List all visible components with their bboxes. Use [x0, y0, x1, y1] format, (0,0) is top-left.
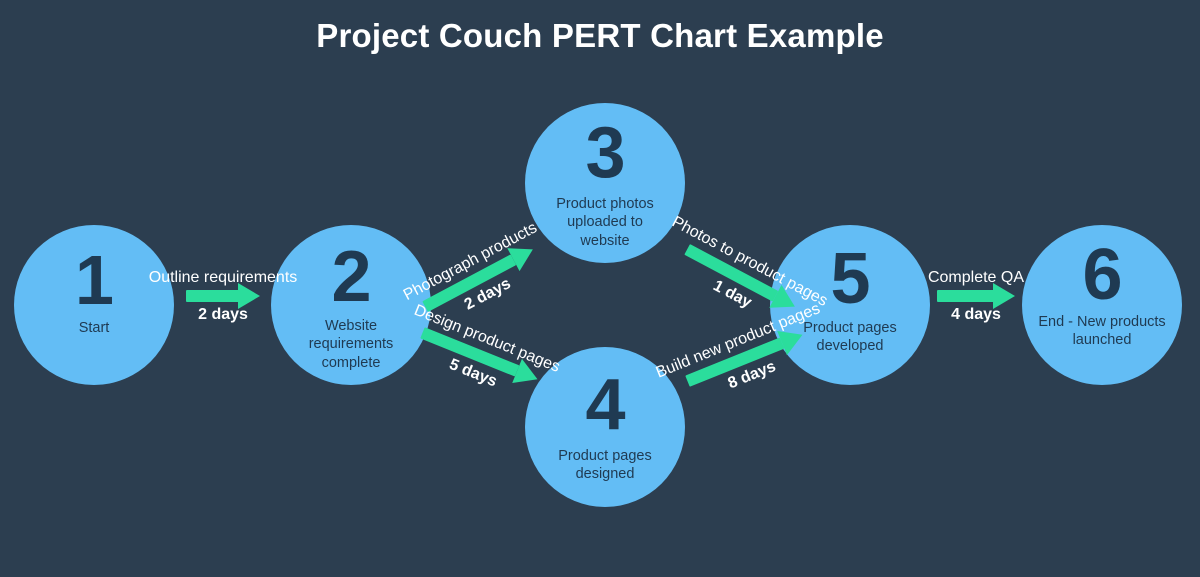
node-number: 4 [585, 369, 624, 441]
pert-edge-1-to-2: Outline requirements 2 days [186, 290, 260, 302]
edge-duration-label: 4 days [951, 306, 1001, 324]
node-label: End - New products launched [1038, 313, 1166, 350]
node-number: 3 [585, 117, 624, 189]
pert-node-1[interactable]: 1 Start [14, 225, 174, 385]
pert-node-6[interactable]: 6 End - New products launched [1022, 225, 1182, 385]
node-number: 6 [1082, 239, 1121, 311]
pert-edge-3-to-5: Photos to product pages 1 day [684, 244, 797, 312]
node-label: Start [30, 319, 158, 337]
pert-edge-2-to-3: Photograph products 2 days [422, 244, 535, 312]
chart-title: Project Couch PERT Chart Example [0, 17, 1200, 55]
pert-edge-2-to-4: Design product pages 5 days [420, 327, 539, 385]
pert-edge-4-to-5: Build new product pages 8 days [685, 329, 804, 387]
node-label: Website requirements complete [287, 317, 415, 372]
pert-node-2[interactable]: 2 Website requirements complete [271, 225, 431, 385]
node-number: 1 [75, 245, 113, 315]
node-number: 2 [331, 241, 370, 313]
pert-node-3[interactable]: 3 Product photos uploaded to website [525, 103, 685, 263]
edge-duration-label: 2 days [198, 306, 248, 324]
edge-task-label: Outline requirements [149, 268, 298, 287]
node-label: Product pages designed [541, 447, 669, 484]
node-number: 5 [830, 243, 869, 315]
node-label: Product photos uploaded to website [541, 195, 669, 250]
arrow-icon [186, 290, 260, 302]
node-label: Product pages developed [786, 319, 914, 356]
pert-edge-5-to-6: Complete QA 4 days [937, 290, 1015, 302]
arrow-icon [937, 290, 1015, 302]
pert-chart-canvas: Project Couch PERT Chart Example 1 Start… [0, 0, 1200, 577]
